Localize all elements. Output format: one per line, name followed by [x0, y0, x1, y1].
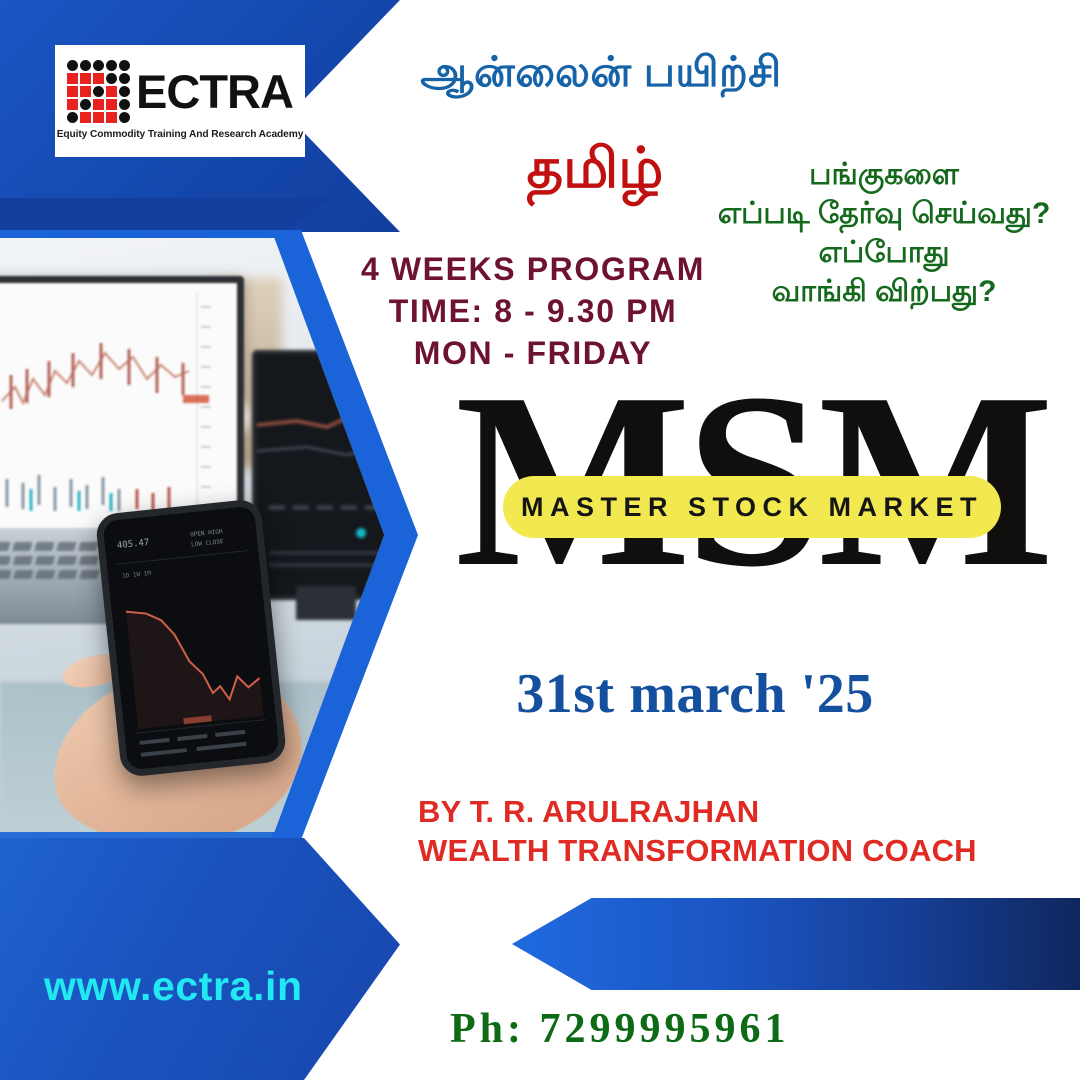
presenter-block: BY T. R. ARULRAJHAN WEALTH TRANSFORMATIO…: [418, 792, 1018, 870]
event-date: 31st march '25: [460, 662, 930, 726]
phone-number[interactable]: Ph: 7299995961: [450, 1005, 920, 1053]
dot-matrix-icon: [67, 60, 130, 123]
msm-banner: MASTER STOCK MARKET: [503, 476, 1001, 538]
smartphone: 405.47 OPEN HIGH LOW CLOSE 1D 1W 1M: [95, 498, 288, 778]
laptop-candlestick-chart-icon: [0, 283, 237, 538]
program-duration: 4 WEEKS PROGRAM: [338, 248, 728, 290]
ectra-logo: ECTRA Equity Commodity Training And Rese…: [55, 45, 305, 157]
msm-banner-text: MASTER STOCK MARKET: [521, 492, 983, 523]
phone-trading-chart-icon: 405.47 OPEN HIGH LOW CLOSE 1D 1W 1M: [102, 506, 279, 771]
msm-logo: MSM MASTER STOCK MARKET: [455, 378, 1045, 624]
website-url[interactable]: www.ectra.in: [44, 963, 303, 1010]
bottom-right-gradient-bar: [512, 898, 1080, 990]
monitor-stand: [296, 586, 356, 620]
question-line-2: எப்படி தேர்வு செய்வது?: [700, 194, 1068, 233]
logo-wordmark: ECTRA: [136, 70, 293, 113]
program-time: TIME: 8 - 9.30 PM: [338, 290, 728, 332]
question-line-3: எப்போது: [700, 233, 1068, 272]
bottom-left-blue-chevron: [0, 838, 400, 1080]
presenter-title: WEALTH TRANSFORMATION COACH: [418, 831, 1018, 870]
headline-tamil: ஆன்லைன் பயிற்சி: [376, 48, 826, 102]
question-line-4: வாங்கி விற்பது?: [700, 272, 1068, 311]
questions-block: பங்குகளை எப்படி தேர்வு செய்வது? எப்போது …: [700, 155, 1068, 311]
promotional-poster: 405.47 OPEN HIGH LOW CLOSE 1D 1W 1M: [0, 0, 1080, 1080]
question-line-1: பங்குகளை: [700, 155, 1068, 194]
logo-tagline: Equity Commodity Training And Research A…: [57, 129, 304, 140]
presenter-name: BY T. R. ARULRAJHAN: [418, 792, 1018, 831]
